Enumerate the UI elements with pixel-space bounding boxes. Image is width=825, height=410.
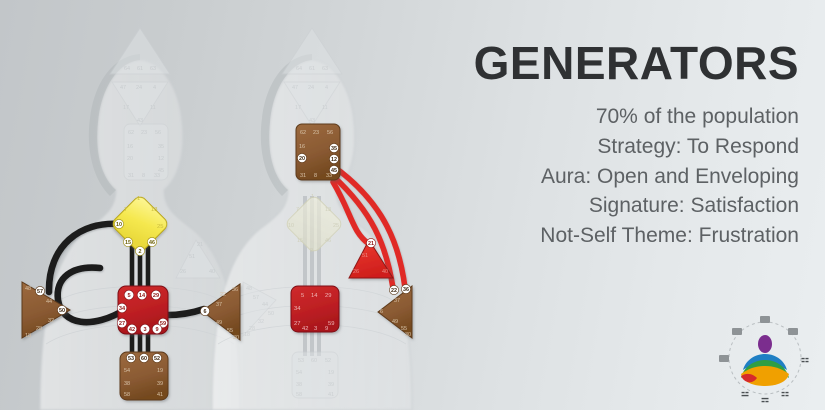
svg-text:64: 64 [296,66,302,72]
svg-text:46: 46 [149,240,155,246]
left-sacral-center[interactable]: 5 14 29 34 27 59 42 3 9 [117,286,168,334]
svg-text:13: 13 [325,207,331,213]
svg-text:37: 37 [394,298,400,304]
population-line: 70% of the population [429,102,799,132]
svg-text:59: 59 [328,321,334,327]
svg-text:42: 42 [129,327,135,333]
svg-text:35: 35 [158,144,164,150]
svg-text:48: 48 [246,286,252,292]
svg-text:34: 34 [119,306,126,312]
right-sacral-center[interactable]: 5 14 29 34 27 59 42 3 9 [291,286,339,332]
svg-text:54: 54 [296,370,302,376]
svg-text:30: 30 [233,335,239,341]
svg-text:52: 52 [154,356,160,362]
svg-text:14: 14 [311,293,318,299]
right-bodygraph[interactable]: 64 61 63 47 24 4 17 11 43 [243,28,412,398]
svg-text:5: 5 [301,293,304,299]
strategy-line: Strategy: To Respond [429,132,799,162]
left-head-center[interactable]: 64 61 63 [110,28,170,74]
svg-text:33: 33 [154,173,160,179]
svg-text:38: 38 [296,382,302,388]
svg-text:20: 20 [299,156,305,162]
svg-text:12: 12 [331,157,337,163]
svg-text:49: 49 [392,319,398,325]
svg-text:25: 25 [157,224,163,230]
left-g-center[interactable]: 1 7 13 10 25 15 46 2 [110,194,169,255]
svg-text:41: 41 [328,392,334,398]
svg-text:22: 22 [391,288,397,294]
svg-text:47: 47 [292,85,298,91]
svg-text:32: 32 [48,318,54,324]
svg-text:29: 29 [153,293,159,299]
svg-text:17: 17 [295,105,301,111]
right-head-center[interactable]: 64 61 63 [282,28,342,74]
svg-text:56: 56 [327,130,333,136]
page-title: GENERATORS [429,40,799,86]
channel-59-6 [168,309,204,315]
not-self-theme-line: Not-Self Theme: Frustration [429,221,799,251]
svg-text:21: 21 [197,242,203,248]
svg-text:57: 57 [253,295,259,301]
svg-text:51: 51 [189,254,195,260]
svg-text:23: 23 [141,130,147,136]
svg-text:58: 58 [124,392,130,398]
right-root-center[interactable]: 53 60 52 54 19 38 39 58 41 [292,352,338,398]
svg-text:10: 10 [116,222,122,228]
svg-text:6: 6 [204,309,207,315]
svg-text:60: 60 [311,358,317,364]
svg-text:9: 9 [325,326,328,332]
svg-text:24: 24 [136,85,142,91]
svg-text:9: 9 [155,327,158,333]
svg-text:26: 26 [353,269,359,275]
hexagram-bottom-left: ⚍ [741,388,749,398]
svg-text:43: 43 [309,118,315,124]
svg-text:2: 2 [310,248,313,254]
svg-text:16: 16 [127,144,133,150]
svg-text:26: 26 [180,269,186,275]
svg-text:27: 27 [119,321,125,327]
svg-text:1: 1 [137,196,140,202]
svg-text:44: 44 [46,299,52,305]
svg-text:16: 16 [299,144,305,150]
left-ajna-center[interactable]: 47 24 4 17 11 43 [112,82,168,126]
svg-text:4: 4 [325,85,328,91]
svg-text:7: 7 [296,207,299,213]
svg-text:39: 39 [328,382,334,388]
right-ajna-center[interactable]: 47 24 4 17 11 43 [284,82,340,126]
svg-text:36: 36 [232,287,238,293]
hexagram-right: ⚏ [801,354,809,364]
svg-text:14: 14 [139,293,146,299]
left-root-center[interactable]: 53 60 52 54 19 38 39 58 41 [120,352,168,400]
svg-text:62: 62 [128,130,134,136]
svg-text:31: 31 [300,173,306,179]
svg-text:41: 41 [157,392,163,398]
right-solar-plexus-center[interactable]: 22 36 37 6 49 55 30 [378,284,412,338]
svg-text:35: 35 [331,146,337,152]
svg-text:13: 13 [151,207,157,213]
svg-text:54: 54 [124,368,130,374]
svg-text:56: 56 [155,130,161,136]
svg-text:6: 6 [380,309,383,315]
svg-text:28: 28 [36,326,42,332]
svg-text:64: 64 [124,66,130,72]
svg-text:46: 46 [325,238,331,244]
aura-line: Aura: Open and Enveloping [429,162,799,192]
svg-text:3: 3 [143,327,146,333]
svg-text:11: 11 [322,105,328,111]
svg-text:2: 2 [139,249,142,255]
channel-34-50 [58,268,126,323]
svg-text:61: 61 [309,66,315,72]
svg-text:53: 53 [298,358,304,364]
left-bodygraph[interactable]: 64 61 63 47 24 4 17 11 43 62 23 56 16 20… [22,28,240,400]
svg-text:48: 48 [25,286,31,292]
svg-text:57: 57 [37,289,43,295]
right-g-center[interactable]: 1 7 13 10 25 15 46 2 [284,194,343,254]
svg-text:36: 36 [403,287,409,293]
right-throat-center[interactable]: 62 23 56 16 20 35 12 45 31 8 33 [296,124,340,180]
svg-text:31: 31 [128,173,134,179]
mandala-logo[interactable]: ⚏ ⚍ ⚎ ⚏ [715,312,815,404]
svg-text:33: 33 [326,173,332,179]
svg-text:55: 55 [227,328,233,334]
right-spleen-center[interactable]: 48 57 44 50 32 28 18 [243,282,276,338]
left-heart-center[interactable]: 21 51 26 40 [176,240,220,278]
svg-text:51: 51 [362,253,368,259]
svg-text:10: 10 [288,223,294,229]
svg-text:49: 49 [216,320,222,326]
svg-text:37: 37 [216,302,222,308]
signature-line: Signature: Satisfaction [429,191,799,221]
infographic-canvas: 64 61 63 47 24 4 17 11 43 [0,0,825,410]
svg-text:3: 3 [314,326,317,332]
svg-text:40: 40 [209,269,215,275]
svg-text:30: 30 [405,332,411,338]
svg-text:22: 22 [220,292,226,298]
svg-text:11: 11 [150,105,156,111]
svg-text:24: 24 [308,85,314,91]
svg-text:61: 61 [137,66,143,72]
svg-text:7: 7 [124,207,127,213]
svg-text:47: 47 [120,85,126,91]
svg-text:60: 60 [141,356,147,362]
svg-text:53: 53 [128,356,134,362]
svg-text:12: 12 [158,156,164,162]
svg-text:15: 15 [125,240,131,246]
svg-text:34: 34 [294,306,301,312]
svg-text:18: 18 [244,332,250,338]
logo-figure [741,335,789,386]
svg-text:29: 29 [325,293,331,299]
svg-text:43: 43 [137,118,143,124]
svg-text:19: 19 [328,370,334,376]
svg-text:19: 19 [157,368,163,374]
svg-text:58: 58 [296,392,302,398]
svg-text:20: 20 [127,156,133,162]
svg-text:25: 25 [333,223,339,229]
svg-text:4: 4 [153,85,156,91]
svg-text:44: 44 [262,302,268,308]
svg-text:23: 23 [313,130,319,136]
svg-text:15: 15 [297,238,303,244]
svg-text:50: 50 [59,308,65,314]
hexagram-bottom: ⚎ [761,394,769,404]
svg-text:5: 5 [127,293,130,299]
svg-text:27: 27 [294,321,300,327]
svg-text:18: 18 [25,333,31,339]
svg-text:39: 39 [157,381,163,387]
svg-text:8: 8 [314,173,317,179]
svg-text:63: 63 [150,66,156,72]
left-solar-plexus-center[interactable]: 36 22 37 6 49 55 30 [200,284,240,341]
svg-text:1: 1 [311,194,314,200]
svg-text:32: 32 [258,319,264,325]
svg-text:63: 63 [322,66,328,72]
svg-text:40: 40 [382,269,388,275]
svg-text:50: 50 [268,311,274,317]
svg-text:62: 62 [300,130,306,136]
svg-text:21: 21 [368,241,374,247]
svg-text:42: 42 [302,326,308,332]
left-throat-center[interactable]: 62 23 56 16 20 35 12 45 31 8 33 [124,124,168,180]
svg-text:8: 8 [142,173,145,179]
svg-text:17: 17 [123,105,129,111]
hexagram-bottom-right: ⚏ [781,388,789,398]
svg-text:52: 52 [325,358,331,364]
text-panel: GENERATORS 70% of the population Strateg… [429,40,799,251]
svg-text:38: 38 [124,381,130,387]
